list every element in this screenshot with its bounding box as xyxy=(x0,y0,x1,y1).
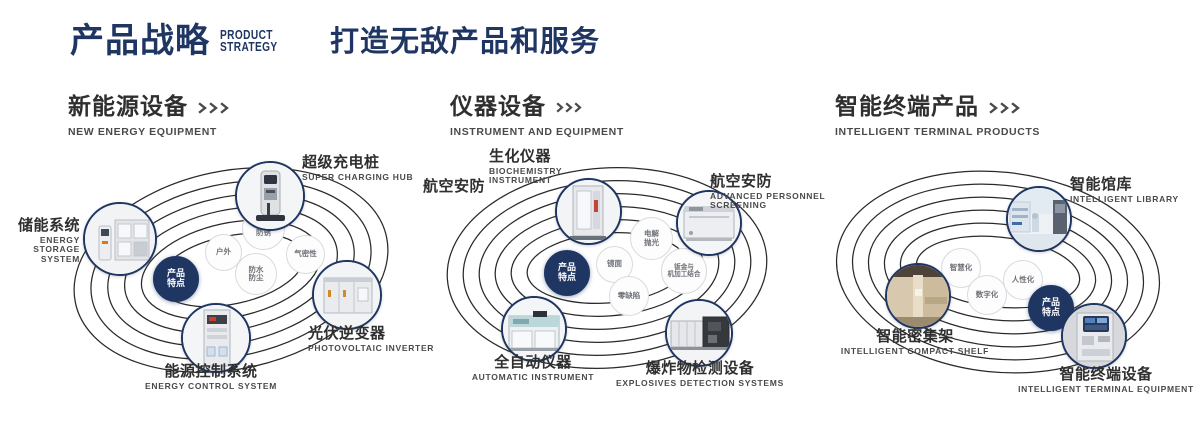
caption-pv-inverter: 光伏逆变器 PHOTOVOLTAIC INVERTER xyxy=(308,325,438,353)
section-title-new-energy: 新能源设备 NEW ENERGY EQUIPMENT xyxy=(68,96,232,138)
charging-pile-photo xyxy=(237,163,303,229)
section-title-en: NEW ENERGY EQUIPMENT xyxy=(68,126,232,138)
page-title-cn: 产品战略 xyxy=(70,24,210,58)
caption-biochemistry: 生化仪器 BIOCHEMISTRY INSTRUMENT xyxy=(489,148,609,186)
feature-bubble-digital: 数字化 xyxy=(967,275,1007,315)
poster-canvas: 产品战略 PRODUCT STRATEGY 打造无敌产品和服务 新能源设备 NE… xyxy=(0,0,1200,422)
caption-automatic-instrument: 全自动仪器 AUTOMATIC INSTRUMENT xyxy=(418,354,648,382)
automatic-instrument-photo xyxy=(503,298,565,360)
biochemistry-photo xyxy=(557,180,620,243)
node-charging-hub[interactable] xyxy=(235,161,305,231)
page-title-en: PRODUCT STRATEGY xyxy=(220,29,278,58)
core-line2: 特点 xyxy=(167,279,185,289)
feature-core-bubble: 产品 特点 xyxy=(153,256,199,302)
caption-explosives-detection: 爆炸物检测设备 EXPLOSIVES DETECTION SYSTEMS xyxy=(615,360,785,388)
caption-terminal-equipment: 智能终端设备 INTELLIGENT TERMINAL EQUIPMENT xyxy=(1016,366,1196,394)
feature-core-bubble: 产品 特点 xyxy=(544,250,590,296)
section-title-cn: 新能源设备 xyxy=(68,96,188,119)
cluster-intelligent-terminal: 智慧化 数字化 人性化 产品 特点 xyxy=(818,160,1193,395)
caption-energy-storage: 储能系统 ENERGY STORAGE SYSTEM xyxy=(0,217,80,264)
terminal-kiosk-photo xyxy=(1063,305,1125,367)
node-intelligent-library[interactable] xyxy=(1006,186,1072,252)
node-terminal-equipment[interactable] xyxy=(1061,303,1127,369)
chevron-right-icon xyxy=(198,102,232,114)
section-title-instrument: 仪器设备 INSTRUMENT AND EQUIPMENT xyxy=(450,96,624,138)
caption-energy-control: 能源控制系统 ENERGY CONTROL SYSTEM xyxy=(86,363,336,391)
section-title-cn: 智能终端产品 xyxy=(835,96,979,119)
chevron-right-icon xyxy=(556,102,586,113)
section-title-en: INSTRUMENT AND EQUIPMENT xyxy=(450,126,624,138)
compact-shelf-photo xyxy=(887,265,949,327)
page-title: 产品战略 PRODUCT STRATEGY xyxy=(70,24,294,58)
section-title-cn: 仪器设备 xyxy=(450,96,546,119)
explosives-detector-photo xyxy=(667,301,731,365)
library-room-photo xyxy=(1008,188,1070,250)
caption-compact-shelf: 智能密集架 INTELLIGENT COMPACT SHELF xyxy=(810,328,1020,356)
cluster-instrument: 产品 特点 镜面 电解 抛光 零缺陷 钣金与 机加工结合 航空安防 xyxy=(425,155,795,387)
feature-bubble-waterproof: 防水 防尘 xyxy=(235,253,277,295)
page-title-en-line2: STRATEGY xyxy=(220,41,278,54)
core-line1: 产品 xyxy=(167,269,185,279)
section-title-en: INTELLIGENT TERMINAL PRODUCTS xyxy=(835,126,1040,138)
section-title-intelligent: 智能终端产品 INTELLIGENT TERMINAL PRODUCTS xyxy=(835,96,1040,138)
page-subtitle: 打造无敌产品和服务 xyxy=(330,27,600,56)
feature-bubble-zerodefect: 零缺陷 xyxy=(609,276,649,316)
inverter-cabinet-photo xyxy=(314,262,380,328)
node-compact-shelf[interactable] xyxy=(885,263,951,329)
node-explosives-detection[interactable] xyxy=(665,299,733,367)
cluster-new-energy: 产品 特点 户外 防腐 防锈 防水 防尘 气密性 xyxy=(50,155,410,385)
node-biochemistry[interactable] xyxy=(555,178,622,245)
node-energy-storage[interactable] xyxy=(83,202,157,276)
caption-intelligent-library: 智能馆库 INTELLIGENT LIBRARY xyxy=(1070,176,1200,204)
node-pv-inverter[interactable] xyxy=(312,260,382,330)
battery-cabinet-photo xyxy=(85,204,155,274)
caption-aviation-security-left: 航空安防 xyxy=(395,178,485,195)
feature-bubble-electropolish: 电解 抛光 xyxy=(630,217,673,260)
chevron-right-icon xyxy=(989,102,1023,114)
